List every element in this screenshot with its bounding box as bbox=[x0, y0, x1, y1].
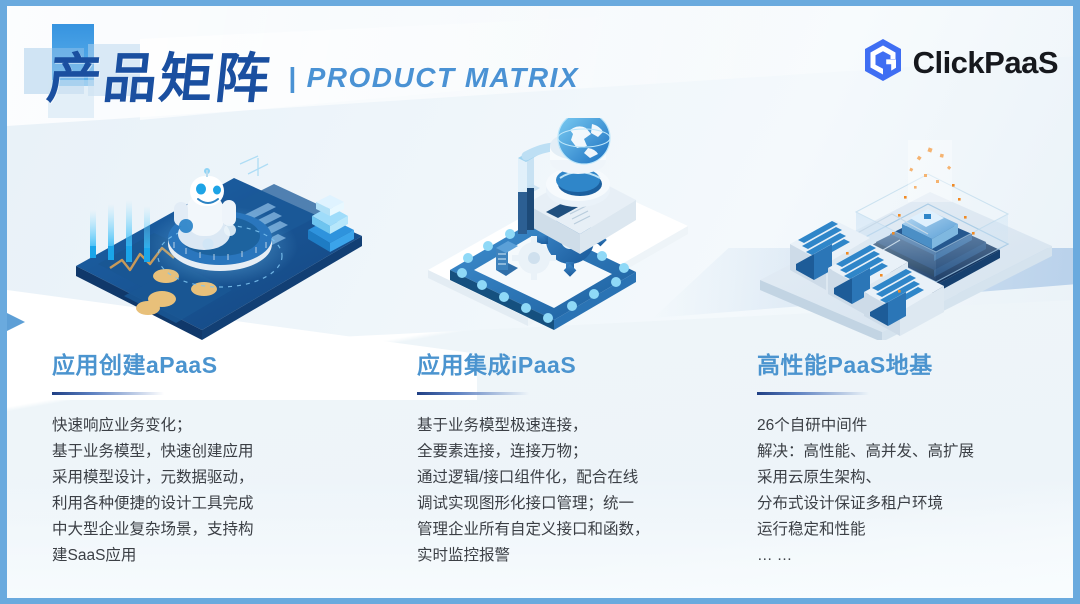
column-body-ipaas: 基于业务模型极速连接， 全要素连接，连接万物； 通过逻辑/接口组件化，配合在线 … bbox=[417, 413, 727, 569]
body-line: 基于业务模型，快速创建应用 bbox=[52, 439, 362, 465]
logo-wordmark: ClickPaaS bbox=[913, 45, 1058, 81]
body-line: 快速响应业务变化； bbox=[52, 413, 362, 439]
slide-frame-top bbox=[0, 0, 1080, 6]
column-paas-foundation: 高性能PaaS地基 26个自研中间件 解决：高性能、高并发、高扩展 采用云原生架… bbox=[757, 352, 1067, 569]
column-body-apaas: 快速响应业务变化； 基于业务模型，快速创建应用 采用模型设计，元数据驱动， 利用… bbox=[52, 413, 362, 569]
body-line: 分布式设计保证多租户环境 bbox=[757, 491, 1067, 517]
body-line: 26个自研中间件 bbox=[757, 413, 1067, 439]
slide-frame-right bbox=[1073, 0, 1080, 604]
column-body-paas-foundation: 26个自研中间件 解决：高性能、高并发、高扩展 采用云原生架构、 分布式设计保证… bbox=[757, 413, 1067, 569]
slide-frame-bottom bbox=[0, 598, 1080, 604]
slide-frame-left bbox=[0, 0, 7, 604]
body-line: 基于业务模型极速连接， bbox=[417, 413, 727, 439]
left-arrow-accent-icon bbox=[7, 313, 25, 331]
column-title-apaas: 应用创建aPaaS bbox=[52, 352, 362, 380]
page-subtitle: | PRODUCT MATRIX bbox=[288, 62, 579, 94]
body-line: 采用云原生架构、 bbox=[757, 465, 1067, 491]
server-racks-pyramid-datacenter-illustration bbox=[752, 140, 1072, 340]
body-line: 调试实现图形化接口管理；统一 bbox=[417, 491, 727, 517]
column-divider-apaas bbox=[52, 392, 164, 395]
column-divider-paas-foundation bbox=[757, 392, 869, 395]
column-title-paas-foundation: 高性能PaaS地基 bbox=[757, 352, 1067, 380]
body-line: 解决：高性能、高并发、高扩展 bbox=[757, 439, 1067, 465]
body-line: 建SaaS应用 bbox=[52, 543, 362, 569]
brand-logo: ClickPaaS bbox=[863, 38, 1058, 87]
body-line: 管理企业所有自定义接口和函数， bbox=[417, 517, 727, 543]
body-line: 运行稳定和性能 bbox=[757, 517, 1067, 543]
column-ipaas: 应用集成iPaaS 基于业务模型极速连接， 全要素连接，连接万物； 通过逻辑/接… bbox=[417, 352, 727, 569]
slide-root: 产品矩阵 | PRODUCT MATRIX ClickPaaS bbox=[0, 0, 1080, 604]
column-apaas: 应用创建aPaaS 快速响应业务变化； 基于业务模型，快速创建应用 采用模型设计… bbox=[52, 352, 362, 569]
column-title-ipaas: 应用集成iPaaS bbox=[417, 352, 727, 380]
body-line: 利用各种便捷的设计工具完成 bbox=[52, 491, 362, 517]
globe-gear-conveyor-platform-illustration bbox=[420, 118, 750, 353]
body-line: 全要素连接，连接万物； bbox=[417, 439, 727, 465]
body-line: 通过逻辑/接口组件化，配合在线 bbox=[417, 465, 727, 491]
body-line: … … bbox=[757, 543, 1067, 569]
page-title: 产品矩阵 bbox=[44, 34, 276, 113]
body-line: 采用模型设计，元数据驱动， bbox=[52, 465, 362, 491]
column-divider-ipaas bbox=[417, 392, 529, 395]
body-line: 中大型企业复杂场景，支持构 bbox=[52, 517, 362, 543]
product-columns: 应用创建aPaaS 快速响应业务变化； 基于业务模型，快速创建应用 采用模型设计… bbox=[0, 352, 1080, 602]
slide-header: 产品矩阵 | PRODUCT MATRIX ClickPaaS bbox=[0, 0, 1080, 135]
robot-dashboard-platform-illustration bbox=[62, 148, 382, 353]
clickpaas-hexagon-icon bbox=[863, 38, 903, 87]
body-line: 实时监控报警 bbox=[417, 543, 727, 569]
